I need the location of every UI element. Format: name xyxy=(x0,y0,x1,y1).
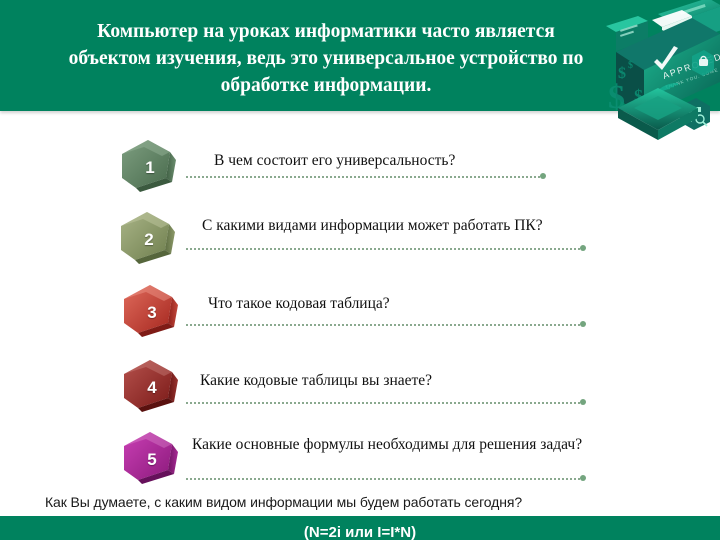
footer-band: (N=2i или I=I*N) xyxy=(0,516,720,540)
list-item[interactable]: 1 В чем состоит его универсальность? xyxy=(0,138,720,198)
number-badge-label-4: 4 xyxy=(120,358,182,414)
header-band: Компьютер на уроках информатики часто яв… xyxy=(0,0,720,111)
dotted-underline-3 xyxy=(186,324,580,329)
question-text-4: Какие кодовые таблицы вы знаете? xyxy=(200,370,432,391)
page-title: Компьютер на уроках информатики часто яв… xyxy=(46,18,606,99)
slide-canvas: Компьютер на уроках информатики часто яв… xyxy=(0,0,720,540)
number-badge-3: 3 xyxy=(120,283,182,339)
question-text-1: В чем состоит его универсальность? xyxy=(214,150,455,171)
list-item[interactable]: 3 Что такое кодовая таблица? xyxy=(0,281,720,341)
dotted-underline-4 xyxy=(186,402,580,407)
list-item[interactable]: 2 С какими видами информации может работ… xyxy=(0,206,720,266)
number-badge-label-5: 5 xyxy=(120,430,182,486)
dotted-underline-1 xyxy=(186,176,540,181)
number-badge-4: 4 xyxy=(120,358,182,414)
question-text-5: Какие основные формулы необходимы для ре… xyxy=(192,434,662,455)
dot-terminator-1 xyxy=(540,173,546,179)
list-item[interactable]: 4 Какие кодовые таблицы вы знаете? xyxy=(0,356,720,416)
number-badge-5: 5 xyxy=(120,430,182,486)
dot-terminator-3 xyxy=(580,321,586,327)
dotted-underline-5 xyxy=(186,478,580,483)
list-item[interactable]: 5 Какие основные формулы необходимы для … xyxy=(0,424,720,496)
question-text-3: Что такое кодовая таблица? xyxy=(208,293,390,314)
dot-terminator-2 xyxy=(580,245,586,251)
number-badge-label-1: 1 xyxy=(118,138,180,194)
dot-terminator-4 xyxy=(580,399,586,405)
question-text-2: С какими видами информации может работат… xyxy=(202,215,543,236)
footer-formula-text: (N=2i или I=I*N) xyxy=(0,524,720,540)
bottom-question-text: Как Вы думаете, с каким видом информации… xyxy=(45,493,522,511)
number-badge-label-2: 2 xyxy=(117,210,179,266)
number-badge-label-3: 3 xyxy=(120,283,182,339)
number-badge-1: 1 xyxy=(118,138,180,194)
dotted-underline-2 xyxy=(186,248,580,253)
dot-terminator-5 xyxy=(580,475,586,481)
number-badge-2: 2 xyxy=(117,210,179,266)
